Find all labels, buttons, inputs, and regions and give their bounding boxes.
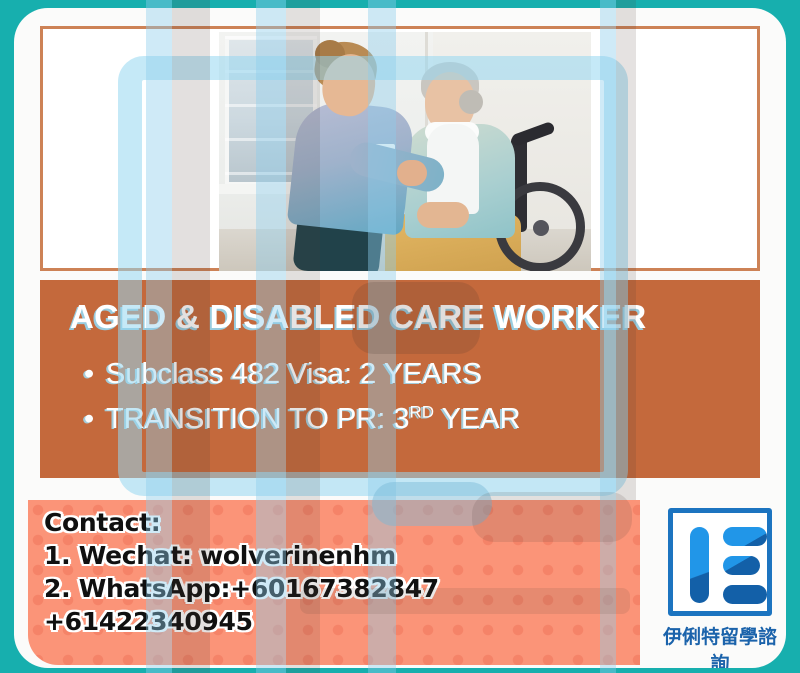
bullet-text: Subclass 482 Visa: 2 YEARS [106, 358, 482, 390]
logo-caption: 伊俐特留學諮詢 [654, 622, 786, 668]
headline-band: AGED & DISABLED CARE WORKER •Subclass 48… [40, 280, 760, 478]
contact-phone[interactable]: +61422340945 [44, 605, 439, 638]
photo-frame [40, 26, 760, 271]
elderly-woman-bun [459, 90, 483, 114]
contact-wechat[interactable]: 1. Wechat: wolverinenhm [44, 539, 439, 572]
poster-root: AGED & DISABLED CARE WORKER •Subclass 48… [0, 0, 800, 673]
logo-bar-top-icon [723, 527, 767, 546]
page-title: AGED & DISABLED CARE WORKER [70, 298, 646, 336]
wheelchair-hub [533, 220, 549, 236]
contact-lines: Contact: 1. Wechat: wolverinenhm 2. What… [44, 506, 439, 638]
contact-panel: Contact: 1. Wechat: wolverinenhm 2. What… [28, 500, 640, 665]
list-item: •TRANSITION TO PR: 3RD YEAR [84, 397, 521, 442]
bullet-icon: • [84, 352, 106, 397]
hero-photo [219, 32, 591, 271]
logo-bar-middle-icon [723, 556, 760, 575]
logo-bar-i-icon [690, 527, 709, 603]
list-item: •Subclass 482 Visa: 2 YEARS [84, 352, 521, 397]
elderly-woman-hands [417, 202, 469, 228]
contact-heading: Contact: [44, 506, 439, 539]
bullet-icon: • [84, 397, 106, 442]
logo-mark-ie-icon [668, 508, 772, 616]
nurse-hand [397, 160, 427, 186]
brand-logo[interactable]: 伊俐特留學諮詢 [654, 508, 786, 668]
logo-bar-bottom-icon [723, 585, 767, 604]
contact-whatsapp[interactable]: 2. WhatsApp:+60167382847 [44, 572, 439, 605]
bullet-text-tail: YEAR [434, 403, 521, 435]
headline-bullet-list: •Subclass 482 Visa: 2 YEARS •TRANSITION … [84, 352, 521, 442]
poster-card: AGED & DISABLED CARE WORKER •Subclass 48… [14, 8, 786, 668]
ordinal-suffix: RD [409, 402, 434, 421]
bullet-text: TRANSITION TO PR: 3 [106, 403, 409, 435]
